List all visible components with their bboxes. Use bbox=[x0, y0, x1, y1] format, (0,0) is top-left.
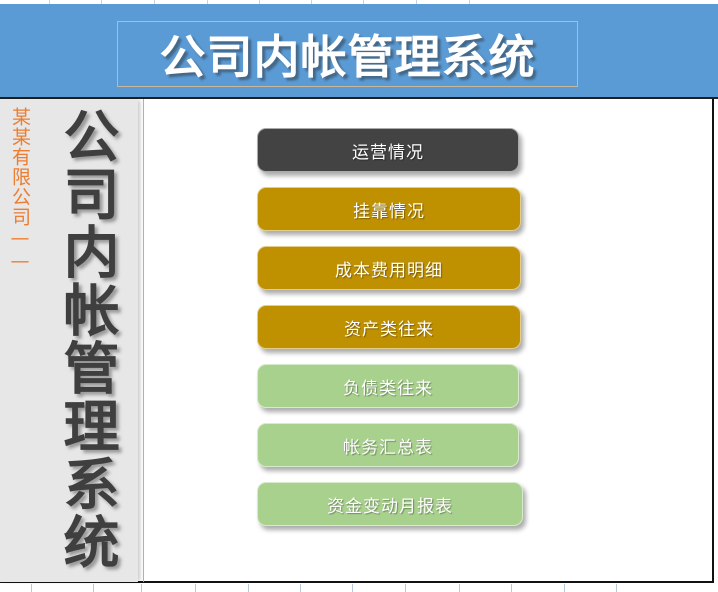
body-area: 某某有限公司—— 公司内帐管理系统 运营情况挂靠情况成本费用明细资产类往来负债类… bbox=[0, 99, 714, 583]
dashboard-root: 公司内帐管理系统 某某有限公司—— 公司内帐管理系统 运营情况挂靠情况成本费用明… bbox=[0, 0, 718, 592]
menu-button-5[interactable]: 负债类往来 bbox=[257, 364, 519, 408]
spreadsheet-gridline-strip-bottom bbox=[0, 584, 718, 592]
menu-button-2[interactable]: 挂靠情况 bbox=[257, 187, 521, 231]
sidebar: 某某有限公司—— 公司内帐管理系统 bbox=[0, 99, 138, 582]
menu-button-label: 挂靠情况 bbox=[353, 197, 425, 222]
grid-tick bbox=[93, 584, 94, 592]
grid-tick bbox=[31, 584, 32, 592]
menu-button-7[interactable]: 资金变动月报表 bbox=[257, 482, 523, 526]
grid-tick bbox=[564, 584, 565, 592]
menu-button-3[interactable]: 成本费用明细 bbox=[257, 246, 521, 290]
menu-button-1[interactable]: 运营情况 bbox=[257, 128, 519, 172]
menu-button-list: 运营情况挂靠情况成本费用明细资产类往来负债类往来帐务汇总表资金变动月报表 bbox=[257, 128, 527, 541]
grid-tick bbox=[248, 584, 249, 592]
menu-button-label: 资金变动月报表 bbox=[327, 492, 453, 517]
menu-button-6[interactable]: 帐务汇总表 bbox=[257, 423, 519, 467]
grid-tick bbox=[616, 584, 617, 592]
grid-tick bbox=[300, 584, 301, 592]
menu-button-4[interactable]: 资产类往来 bbox=[257, 305, 521, 349]
sidebar-system-name: 公司内帐管理系统 bbox=[58, 107, 114, 571]
page-title: 公司内帐管理系统 bbox=[118, 22, 577, 86]
grid-tick bbox=[352, 584, 353, 592]
grid-tick bbox=[459, 584, 460, 592]
menu-button-label: 帐务汇总表 bbox=[343, 433, 433, 458]
grid-tick bbox=[195, 584, 196, 592]
sidebar-company-name: 某某有限公司—— bbox=[10, 107, 29, 273]
grid-tick bbox=[405, 584, 406, 592]
grid-tick bbox=[511, 584, 512, 592]
menu-button-label: 运营情况 bbox=[352, 138, 424, 163]
menu-button-label: 资产类往来 bbox=[344, 315, 434, 340]
title-box: 公司内帐管理系统 bbox=[117, 21, 578, 87]
menu-button-label: 成本费用明细 bbox=[335, 256, 443, 281]
grid-tick bbox=[141, 584, 142, 592]
sidebar-divider bbox=[143, 99, 144, 582]
menu-button-label: 负债类往来 bbox=[343, 374, 433, 399]
